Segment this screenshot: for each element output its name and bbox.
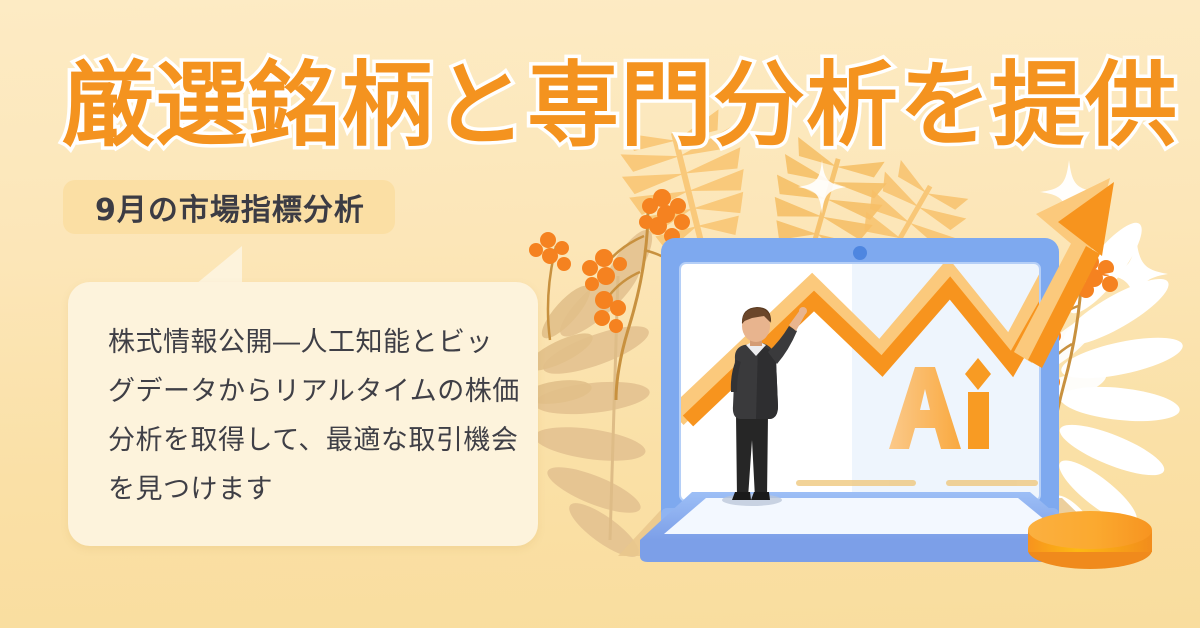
person-finger-tip [799,307,807,315]
laptop-base-front-edge [640,540,1086,562]
gold-coin-icon [1028,511,1152,569]
promo-banner: 厳選銘柄と専門分析を提供 9月の市場指標分析 株式情報公開―人工知能とビッグデー… [0,0,1200,628]
badge-label: 9月の市場指標分析 [95,185,365,229]
status-badge: 9月の市場指標分析 [63,180,395,234]
person-shoe-left [732,492,751,500]
laptop-keyboard-deck [664,498,1062,534]
speech-bubble-tail [196,246,242,284]
speech-bubble-text: 株式情報公開―人工知能とビッグデータからリアルタイムの株価分析を取得して、最適な… [108,318,520,514]
coin-top [1028,511,1152,549]
person-shoe-right [751,492,770,500]
webcam-dot-icon [853,246,867,260]
ai-letter-i-stem [968,392,989,449]
page-title: 厳選銘柄と専門分析を提供 [62,50,1142,162]
